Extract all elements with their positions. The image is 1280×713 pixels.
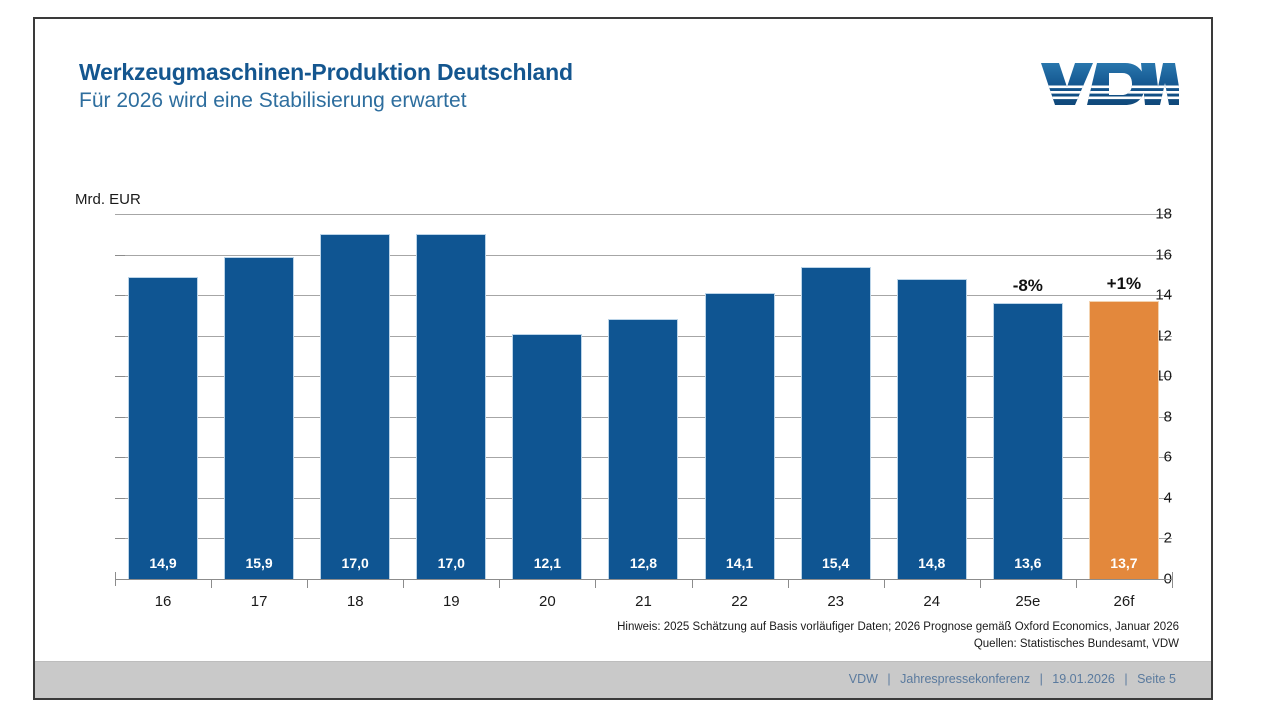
x-axis-tick-label: 22 [692,593,788,610]
x-axis-tick-label: 23 [788,593,884,610]
footer-band: VDW | Jahrespressekonferenz | 19.01.2026… [35,661,1211,698]
bar-group: 15,9 [211,214,307,579]
x-axis-tick-label: 26f [1076,593,1172,610]
x-axis-tick-mark [884,580,885,588]
bar-value-label: 14,9 [129,555,197,571]
x-axis-tick-mark [788,580,789,588]
bar-value-label: 12,1 [513,555,581,571]
x-axis-tick-mark [211,580,212,588]
bar-change-annotation: +1% [1090,274,1158,294]
bar-group: 14,1 [692,214,788,579]
bar[interactable]: 13,6-8% [993,303,1063,579]
footer-date: 19.01.2026 [1052,672,1115,686]
bar[interactable]: 17,0 [320,234,390,579]
x-axis-tick-mark [595,580,596,588]
slide: Werkzeugmaschinen-Produktion Deutschland… [33,17,1213,700]
footnote-note: Hinweis: 2025 Schätzung auf Basis vorläu… [617,619,1179,636]
footnotes: Hinweis: 2025 Schätzung auf Basis vorläu… [617,619,1179,652]
footer-separator-1: | [887,672,890,686]
bar-value-label: 15,4 [802,555,870,571]
bar-group: 17,0 [307,214,403,579]
bar-group: 12,8 [595,214,691,579]
bar-value-label: 13,6 [994,555,1062,571]
bars-layer: 14,915,917,017,012,112,814,115,414,813,6… [115,214,1172,579]
footer-text: VDW | Jahrespressekonferenz | 19.01.2026… [846,672,1179,686]
bar-value-label: 17,0 [321,555,389,571]
x-axis-line [115,579,1172,580]
bar[interactable]: 14,8 [897,279,967,579]
bar[interactable]: 14,9 [128,277,198,579]
bar[interactable]: 17,0 [416,234,486,579]
bar-group: 17,0 [403,214,499,579]
x-axis-tick-label: 18 [307,593,403,610]
bar-value-label: 14,8 [898,555,966,571]
footer-separator-3: | [1124,672,1127,686]
bar[interactable]: 15,4 [801,267,871,579]
bar-change-annotation: -8% [994,276,1062,296]
bar-value-label: 12,8 [609,555,677,571]
bar[interactable]: 13,7+1% [1089,301,1159,579]
bar-value-label: 14,1 [706,555,774,571]
bar-value-label: 17,0 [417,555,485,571]
footer-separator-2: | [1040,672,1043,686]
x-axis-tick-mark [499,580,500,588]
bar[interactable]: 12,1 [512,334,582,579]
bar-group: 12,1 [499,214,595,579]
x-axis-tick-label: 17 [211,593,307,610]
bar[interactable]: 14,1 [705,293,775,579]
x-axis-tick-label: 24 [884,593,980,610]
x-axis-tick-label: 21 [595,593,691,610]
bar-value-label: 13,7 [1090,555,1158,571]
footer-event: Jahrespressekonferenz [900,672,1030,686]
bar-group: 13,7+1% [1076,214,1172,579]
bar-value-label: 15,9 [225,555,293,571]
bar[interactable]: 15,9 [224,257,294,579]
x-axis-tick-mark [403,580,404,588]
y-axis-unit-label: Mrd. EUR [75,191,141,208]
x-axis-tick-mark [1076,580,1077,588]
bar-group: 14,9 [115,214,211,579]
x-axis-tick-label: 25e [980,593,1076,610]
x-axis-tick-label: 20 [499,593,595,610]
bar-group: 13,6-8% [980,214,1076,579]
x-axis-tick-mark [307,580,308,588]
footer-page: Seite 5 [1137,672,1176,686]
footer-org: VDW [849,672,878,686]
x-axis-tick-label: 19 [403,593,499,610]
bar-chart: Mrd. EUR 024681012141618 14,915,917,017,… [35,19,1215,702]
bar-group: 14,8 [884,214,980,579]
x-axis-tick-label: 16 [115,593,211,610]
bar[interactable]: 12,8 [608,319,678,579]
x-axis-tick-mark [1172,580,1173,588]
x-axis-tick-mark [692,580,693,588]
x-axis-tick-mark [980,580,981,588]
footnote-sources: Quellen: Statistisches Bundesamt, VDW [617,636,1179,653]
bar-group: 15,4 [788,214,884,579]
